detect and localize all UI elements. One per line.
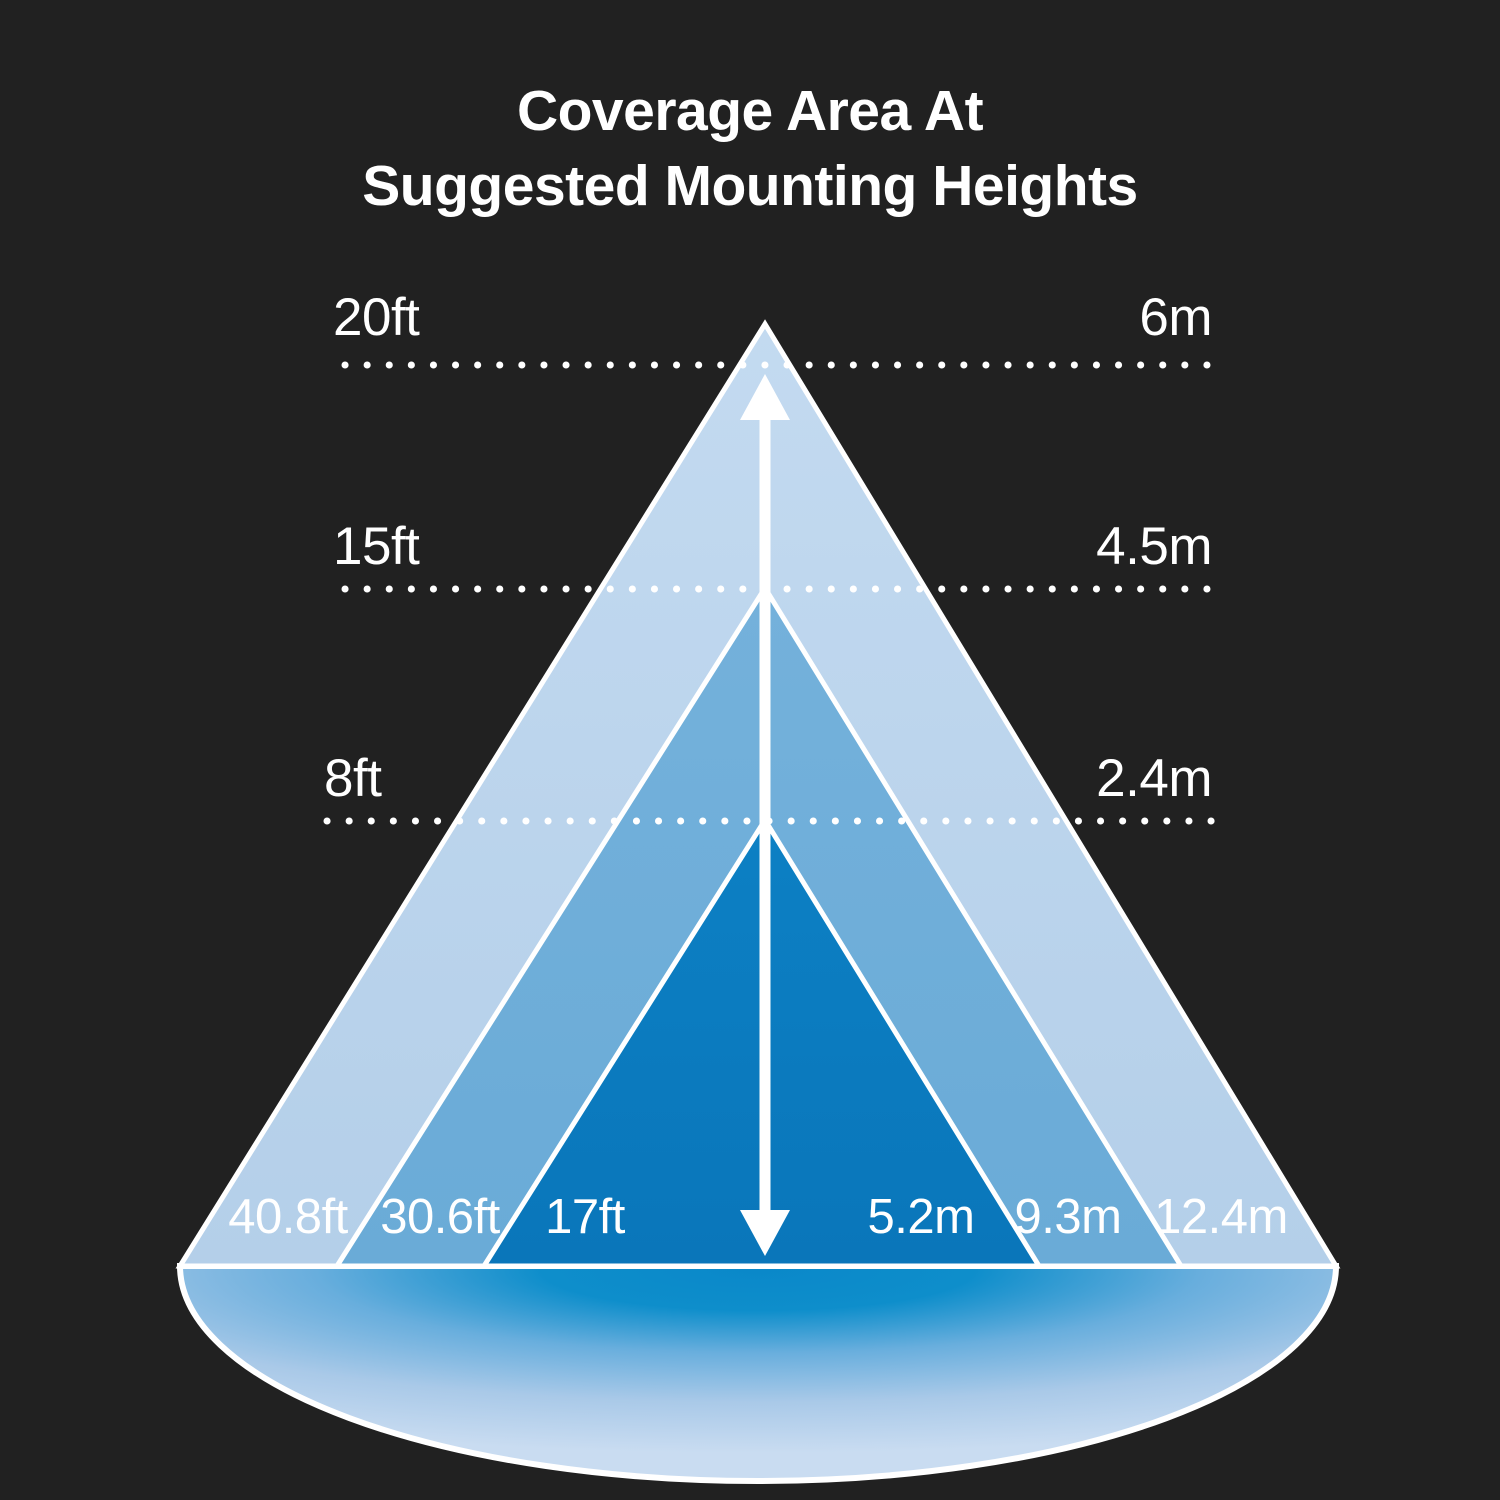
label-right-4-5m: 4.5m — [1096, 516, 1212, 577]
label-right-6m: 6m — [1139, 287, 1212, 348]
label-left-20ft: 20ft — [333, 287, 419, 348]
label-right-2-4m: 2.4m — [1096, 748, 1212, 809]
base-label-17ft: 17ft — [545, 1189, 625, 1245]
base-label-40-8ft: 40.8ft — [228, 1189, 348, 1245]
base-label-5-2m: 5.2m — [868, 1189, 975, 1245]
floor-ellipse — [180, 1266, 1336, 1481]
base-label-30-6ft: 30.6ft — [380, 1189, 500, 1245]
base-label-12-4m: 12.4m — [1154, 1189, 1288, 1245]
coverage-cone-diagram — [0, 0, 1500, 1500]
base-label-9-3m: 9.3m — [1015, 1189, 1122, 1245]
label-left-15ft: 15ft — [333, 516, 419, 577]
label-left-8ft: 8ft — [324, 748, 381, 809]
coverage-diagram-page: Coverage Area At Suggested Mounting Heig… — [0, 0, 1500, 1500]
